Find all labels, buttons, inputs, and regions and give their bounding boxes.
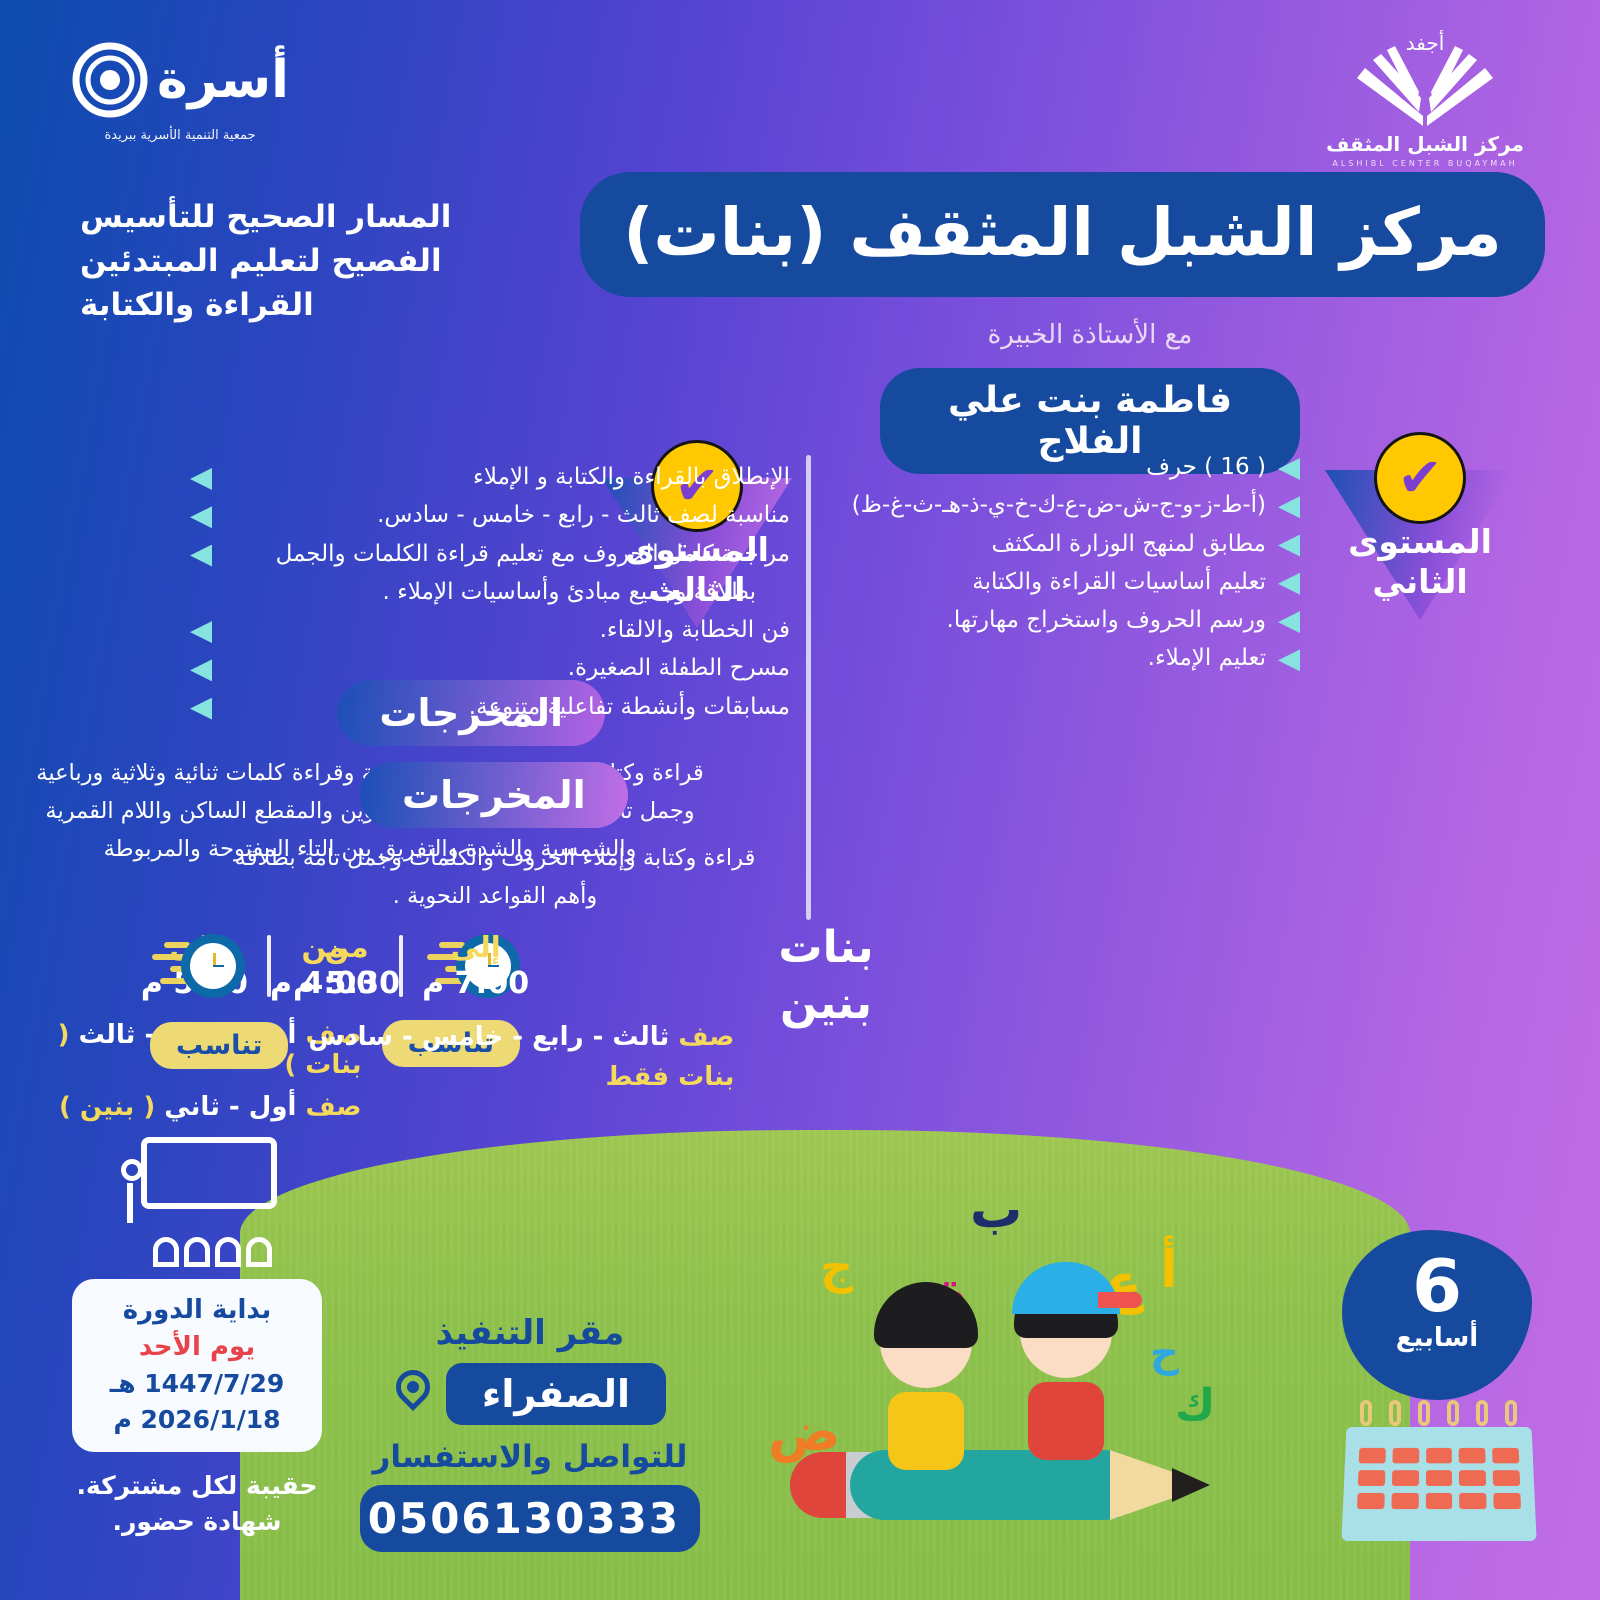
level-two-line1: المستوى (1315, 522, 1525, 562)
poster-tagline: المسار الصحيح للتأسيس الفصيح لتعليم المب… (80, 195, 560, 327)
center-name: مركز الشبل المثقف (1310, 132, 1540, 156)
boy-character (1020, 1286, 1112, 1460)
duration-unit: أسابيع (1342, 1323, 1532, 1353)
list-item: مسرح الطفلة الصغيرة. (190, 653, 790, 684)
course-start-hijri: 1447/7/29 هـ (84, 1369, 310, 1398)
level-three-schedule: من 5:30 م إلى 7:00 م (150, 930, 529, 1001)
level-three-outcomes-title: المخرجات (360, 762, 628, 828)
calendar-grid (1342, 1427, 1536, 1532)
pupil (215, 1237, 241, 1267)
venue-row: الصفراء (360, 1363, 700, 1425)
gender-note: بنات بنين (756, 920, 896, 1033)
boy-body (1028, 1382, 1104, 1460)
check-icon: ✔ (1374, 432, 1466, 524)
fit-line-2: صف أول - ثاني ( بنين ) (0, 1092, 362, 1122)
level-two-line2: الثاني (1315, 562, 1525, 602)
list-item: مسابقات وأنشطة تفاعلية متنوعة. (190, 692, 790, 723)
girl-character (880, 1296, 972, 1470)
note-bag: حقيبة لكل مشتركة. (72, 1468, 322, 1504)
bullet-arrow-icon (1278, 573, 1300, 595)
pencil-lead (1172, 1468, 1210, 1502)
page-title: مركز الشبل المثقف (بنات) (580, 172, 1545, 297)
calendar-body (1341, 1427, 1536, 1541)
boy-cap (1012, 1262, 1120, 1314)
list-item: مراجعة كامل الحروف مع تعليم قراءة الكلما… (190, 539, 790, 570)
bullet-arrow-icon (190, 506, 212, 528)
asra-association-logo: أسرة جمعية التنمية الأسرية ببريدة (60, 38, 300, 143)
bullet-arrow-icon (1278, 649, 1300, 671)
girl-body (888, 1392, 964, 1470)
level-three-list: الإنطلاق بالقراءة والكتابة و الإملاء منا… (190, 462, 790, 730)
pencil-eraser (790, 1452, 854, 1518)
list-item: فن الخطابة والالقاء. (190, 615, 790, 646)
teacher-label: مع الأستاذة الخبيرة (880, 320, 1300, 350)
level-three-fit: تناسب صف ثالث - رابع - خامس - سادس بنات … (150, 1022, 734, 1092)
contact-label: للتواصل والاستفسار (360, 1439, 700, 1475)
fit-prefix: صف (305, 1092, 361, 1122)
pupil (153, 1237, 179, 1267)
fit-line-1: صف ثالث - رابع - خامس - سادس (308, 1022, 734, 1052)
letter-alef: أ (1160, 1240, 1178, 1300)
level-three-time-from: من 5:30 م (293, 930, 400, 1001)
to-value: 7:00 م (422, 966, 529, 1001)
pupil (246, 1237, 272, 1267)
from-value: 5:30 م (293, 966, 400, 1001)
duration-badge: 6 أسابيع (1342, 1230, 1532, 1400)
girl-head (880, 1296, 972, 1388)
letter-hah: ح (1150, 1330, 1179, 1376)
teacher-head (121, 1159, 143, 1181)
contact-phone[interactable]: 0506130333 (360, 1485, 700, 1552)
list-item: الإنطلاق بالقراءة والكتابة و الإملاء (190, 462, 790, 493)
clock-icon (150, 934, 245, 998)
schedule-separator (267, 935, 271, 997)
location-pin-icon (394, 1370, 430, 1418)
venue-heading: مقر التنفيذ (360, 1313, 700, 1353)
course-start-title: بداية الدورة (84, 1295, 310, 1325)
level-three-outcomes-text: قراءة وكتابة وإملاء الحروف والكلمات وجمل… (210, 840, 780, 916)
level-three-fit-pill: تناسب (150, 1022, 288, 1069)
level-two-badge: ✔ المستوى الثاني (1315, 470, 1525, 620)
asra-wordmark: أسرة (157, 50, 289, 110)
course-start-card: بداية الدورة يوم الأحد 1447/7/29 هـ 2026… (72, 1279, 322, 1452)
pupils-figures (153, 1237, 272, 1267)
venue-block: مقر التنفيذ الصفراء للتواصل والاستفسار 0… (360, 1313, 700, 1552)
level-three-time-to: إلى 7:00 م (422, 930, 529, 1001)
center-logo: أجفد مركز الشبل المثقف ALSHIBL CENTER BU… (1310, 18, 1540, 168)
bullet-arrow-icon (1278, 535, 1300, 557)
asra-eye-icon (71, 41, 149, 119)
list-item: مناسبة لصف ثالث - رابع - خامس - سادس. (190, 500, 790, 531)
course-start-block: بداية الدورة يوم الأحد 1447/7/29 هـ 2026… (72, 1137, 322, 1541)
fit-grades: ثالث - رابع - خامس - سادس (308, 1022, 669, 1052)
bullet-arrow-icon (190, 621, 212, 643)
from-label: من (293, 930, 400, 964)
teacher-body (127, 1183, 133, 1223)
bullet-arrow-icon (190, 659, 212, 681)
bullet-arrow-icon (190, 545, 212, 567)
letter-jeem: ج (820, 1240, 853, 1294)
poster-root: أسرة جمعية التنمية الأسرية ببريدة أجفد (0, 0, 1600, 1600)
pencil-icon (790, 1440, 1230, 1530)
level-three-fit-lines: صف ثالث - رابع - خامس - سادس بنات فقط (308, 1022, 734, 1092)
bullet-arrow-icon (190, 698, 212, 720)
letter-kaf: ك (1175, 1380, 1215, 1431)
check-glyph: ✔ (1397, 456, 1442, 499)
level-two-label: المستوى الثاني (1315, 522, 1525, 601)
letter-ba: ب (970, 1180, 1022, 1240)
teacher-board-icon (117, 1137, 277, 1267)
bullet-arrow-icon (1278, 496, 1300, 518)
fit-line-2: بنات فقط (308, 1062, 734, 1092)
teacher-figure (117, 1159, 143, 1221)
list-item-continuation: بطلاقة وجميع مبادئ وأساسيات الإملاء . (190, 577, 790, 608)
asra-logo-mark: أسرة (60, 38, 300, 122)
fit-grades: أول - ثاني (164, 1092, 296, 1122)
bullet-arrow-icon (1278, 611, 1300, 633)
asra-subtitle: جمعية التنمية الأسرية ببريدة (60, 128, 300, 143)
open-book-icon: أجفد (1310, 18, 1540, 128)
fit-gender: ( بنين ) (59, 1092, 155, 1122)
gender-note-girls: بنات (756, 920, 896, 976)
course-start-notes: حقيبة لكل مشتركة. شهادة حضور. (72, 1468, 322, 1541)
center-latin-name: ALSHIBL CENTER BUQAYMAH (1310, 159, 1540, 168)
pupil (184, 1237, 210, 1267)
kids-illustration: ب ج ق أ ع ض ك ح (760, 1170, 1260, 1590)
note-certificate: شهادة حضور. (72, 1504, 322, 1540)
duration-number: 6 (1342, 1230, 1532, 1321)
course-start-gregorian: 2026/1/18 م (84, 1405, 310, 1434)
calendar-icon (1344, 1400, 1534, 1540)
boy-head (1020, 1286, 1112, 1378)
to-label: إلى (422, 930, 529, 964)
venue-name: الصفراء (446, 1363, 666, 1425)
bullet-arrow-icon (190, 468, 212, 490)
bullet-arrow-icon (1278, 458, 1300, 480)
course-start-day: يوم الأحد (84, 1332, 310, 1362)
fit-prefix: صف (678, 1022, 734, 1052)
whiteboard (141, 1137, 277, 1209)
clock-dial (181, 934, 245, 998)
svg-text:أجفد: أجفد (1406, 30, 1445, 55)
calendar-rings (1360, 1400, 1517, 1426)
gender-note-boys: بنين (756, 976, 896, 1032)
